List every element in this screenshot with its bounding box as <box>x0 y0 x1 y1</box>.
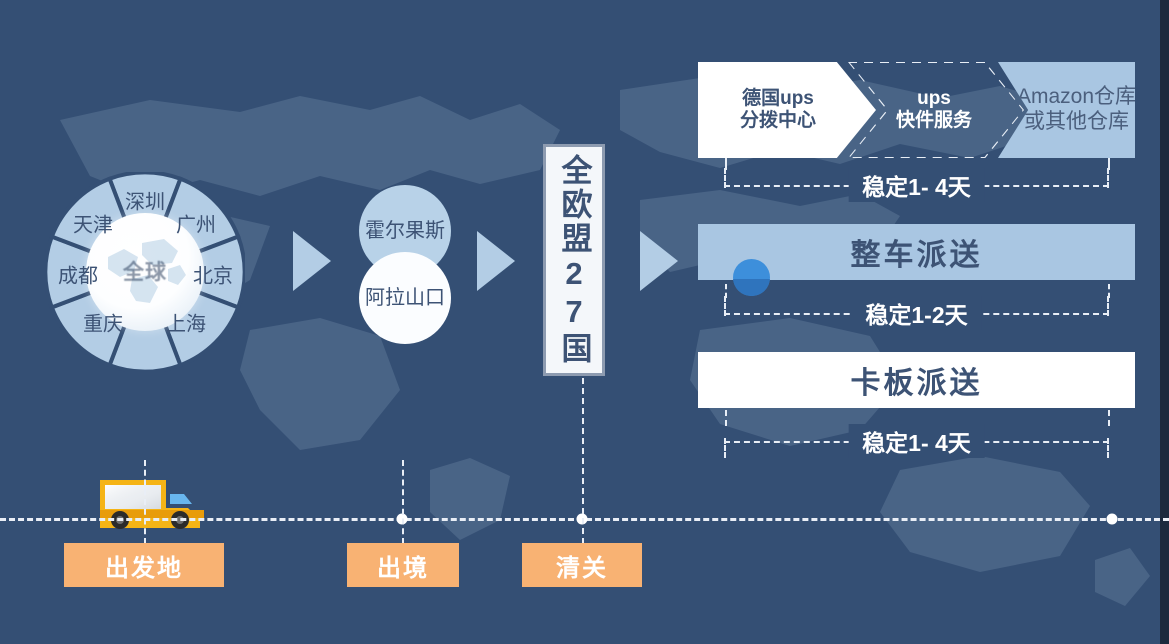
timeline-stage-1-label: 出境 <box>377 548 429 583</box>
customs-eu-box[interactable]: 全欧盟27国 <box>543 144 605 376</box>
timeline-stem-2 <box>582 378 584 544</box>
right-edge-strip <box>1160 0 1169 644</box>
duration-bracket-0-cap-right <box>1107 168 1109 188</box>
customs-eu-label: 全欧盟27国 <box>559 154 590 366</box>
timeline-stage-2[interactable]: 清关 <box>522 543 642 587</box>
triangle-arrow-icon-2 <box>477 231 515 291</box>
origin-city-wheel: 全球 深圳 广州 北京 上海 重庆 成都 天津 <box>45 172 245 372</box>
timeline-stage-0[interactable]: 出发地 <box>64 543 224 587</box>
duration-bracket-0-cap-left <box>724 168 726 188</box>
ups-chain: 德国ups 分拨中心 ups 快件服务 Amazon仓库 或其他仓库 <box>698 62 1135 158</box>
wheel-city-4[interactable]: 重庆 <box>83 308 123 337</box>
delivery-option-1[interactable]: 卡板派送 <box>698 352 1135 408</box>
ups-chain-step-0[interactable]: 德国ups 分拨中心 <box>698 62 876 158</box>
triangle-arrow-icon-3 <box>640 231 678 291</box>
duration-bracket-1-label: 稳定1-2天 <box>851 296 981 330</box>
duration-bracket-1: 稳定1-2天 <box>724 296 1109 330</box>
wheel-city-1[interactable]: 广州 <box>176 209 216 238</box>
ups-chain-step-0-text: 德国ups 分拨中心 <box>740 88 816 133</box>
duration-bracket-1-cap-right <box>1107 296 1109 316</box>
duration-bracket-0: 稳定1- 4天 <box>724 168 1109 202</box>
wheel-center-label: 全球 <box>86 256 204 286</box>
duration-bracket-0-label: 稳定1- 4天 <box>848 168 985 202</box>
border-node-bottom[interactable]: 阿拉山口 <box>359 252 451 344</box>
duration-bracket-2: 稳定1- 4天 <box>724 424 1109 458</box>
timeline-stem-1 <box>402 460 404 544</box>
wheel-city-2[interactable]: 北京 <box>193 260 233 289</box>
duration-bracket-1-cap-left <box>724 296 726 316</box>
timeline-stage-1[interactable]: 出境 <box>347 543 459 587</box>
wheel-city-3[interactable]: 上海 <box>166 308 206 337</box>
border-node-bottom-label: 阿拉山口 <box>365 287 445 309</box>
border-node-top-label: 霍尔果斯 <box>365 220 445 242</box>
delivery-option-1-label: 卡板派送 <box>851 358 983 402</box>
timeline-stem-0 <box>144 460 146 544</box>
triangle-arrow-icon-1 <box>293 231 331 291</box>
duration-bracket-2-cap-left <box>724 438 726 458</box>
duration-bracket-2-cap-right <box>1107 438 1109 458</box>
timeline-dot-3 <box>1107 514 1118 525</box>
delivery-truck-icon <box>96 470 206 530</box>
ups-chain-step-1-text: ups 快件服务 <box>896 88 972 133</box>
duration-bracket-2-label: 稳定1- 4天 <box>848 424 985 458</box>
ups-chain-step-2-text: Amazon仓库 或其他仓库 <box>1017 85 1136 135</box>
diagram-canvas: 全球 深圳 广州 北京 上海 重庆 成都 天津 霍尔果斯 阿拉山口 全欧盟27国… <box>0 0 1169 644</box>
wheel-city-5[interactable]: 成都 <box>58 260 98 289</box>
timeline-stage-2-label: 清关 <box>556 548 608 583</box>
wheel-city-6[interactable]: 天津 <box>73 209 113 238</box>
delivery-option-0-label: 整车派送 <box>851 230 983 274</box>
wheel-city-0[interactable]: 深圳 <box>125 186 165 215</box>
timeline-stage-0-label: 出发地 <box>105 548 183 583</box>
